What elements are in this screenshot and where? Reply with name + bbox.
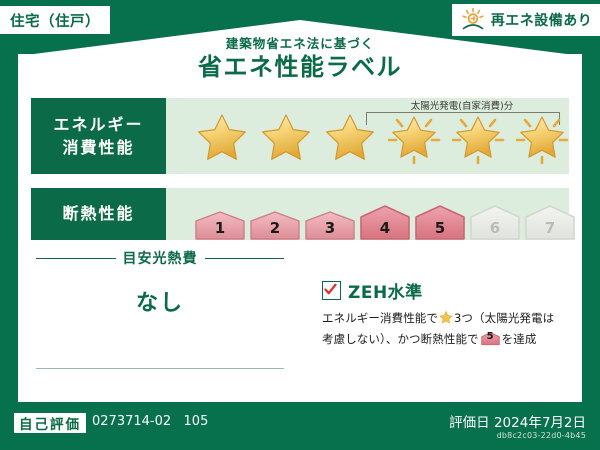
zeh-description: エネルギー消費性能で 3つ（太陽光発電は考慮しない）、かつ断熱性能で 5 を達成 [322,309,562,349]
energy-performance-label: 住宅（住戸） 再エネ設備あり 建築物省エネ法に基づく 省エネ性能ラベル [0,0,600,450]
energy-performance-row: エネルギー 消費性能 太陽光発電(自家消費)分 [31,98,569,174]
zeh-section: ZEH水準 エネルギー消費性能で 3つ（太陽光発電は考慮しない）、かつ断熱性能で… [322,278,562,349]
insulation-level-number: 6 [469,219,521,237]
insulation-level-number: 3 [304,219,356,237]
utility-cost-heading-label: 目安光熱費 [123,248,198,268]
label-footer: 自己評価 0273714-02 105 評価日 2024年7月2日 db8c2c… [0,402,600,450]
insulation-level-4: 4 [359,204,411,240]
insulation-level-number: 5 [414,219,466,237]
energy-star-rating [191,98,573,174]
utility-cost-bottom-rule [36,368,284,369]
inline-star-icon [439,310,453,330]
insulation-level-number: 2 [249,219,301,237]
zeh-title: ZEH水準 [348,278,423,303]
utility-cost-value: なし [36,285,284,317]
document-id: 0273714-02 105 [92,414,208,429]
self-evaluation-label: 自己評価 [19,413,81,433]
utility-cost-heading: 目安光熱費 [36,248,284,268]
inline-house-level: 5 [481,329,500,346]
zeh-desc-part4: を達成 [502,332,537,346]
star-plain [191,105,253,167]
insulation-performance-row: 断熱性能 1 2 [31,188,569,240]
renewable-energy-badge: 再エネ設備あり [452,4,600,36]
rule-right [205,258,285,259]
evaluation-date: 評価日 2024年7月2日 [449,411,586,431]
inline-insulation-house-icon: 5 [481,331,500,346]
self-evaluation-tag: 自己評価 [14,413,86,433]
star-solar [383,105,445,167]
solar-sun-icon [460,7,486,33]
insulation-level-2: 2 [249,210,301,240]
star-solar [511,105,573,167]
renewable-badge-label: 再エネ設備あり [491,10,593,30]
insulation-level-6: 6 [469,204,521,240]
insulation-level-1: 1 [194,210,246,240]
building-type-tag-label: 住宅（住戸） [10,10,100,31]
energy-performance-row-label: エネルギー 消費性能 [31,98,166,174]
star-plain [255,105,317,167]
zeh-heading: ZEH水準 [322,278,562,303]
insulation-level-number: 1 [194,219,246,237]
zeh-checkbox[interactable] [322,281,341,300]
building-type-tag: 住宅（住戸） [0,6,110,34]
rule-left [36,258,116,259]
zeh-desc-part2: 3つ（太陽光発電 [454,311,543,325]
insulation-level-number: 7 [524,219,576,237]
star-solar [447,105,509,167]
insulation-level-7: 7 [524,204,576,240]
insulation-level-3: 3 [304,210,356,240]
insulation-performance-row-label: 断熱性能 [31,188,166,240]
zeh-desc-part1: エネルギー消費性能で [322,311,438,325]
evaluation-hash: db8c2c03-22d0-4b45 [497,431,586,440]
star-plain [319,105,381,167]
insulation-level-scale: 1 2 3 4 [194,188,576,245]
insulation-level-5: 5 [414,204,466,240]
insulation-level-number: 4 [359,219,411,237]
